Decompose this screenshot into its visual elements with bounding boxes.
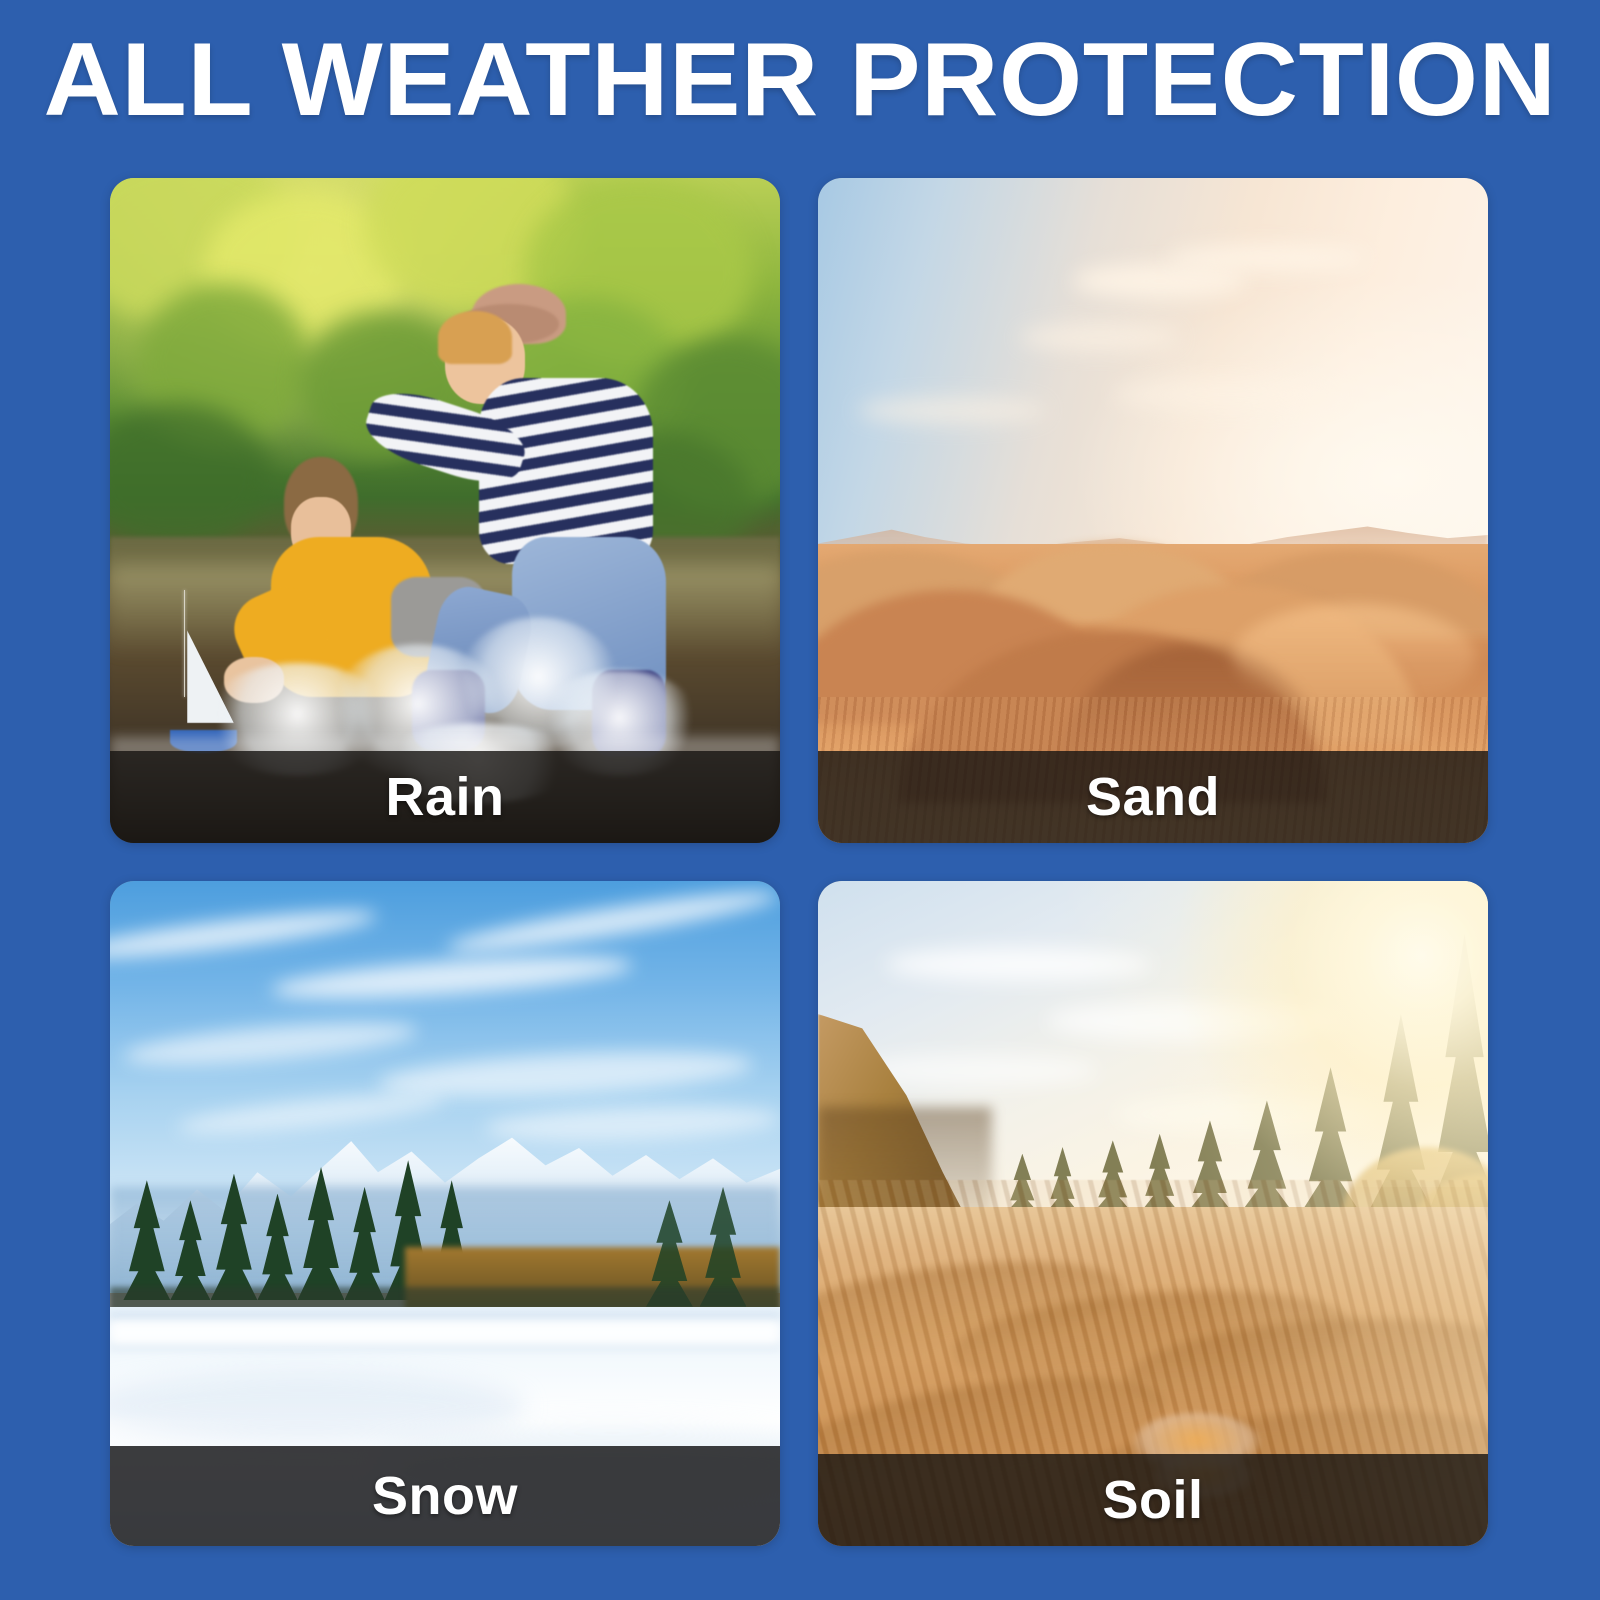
tile-caption-snow: Snow: [110, 1446, 780, 1546]
weather-tile-soil[interactable]: Soil: [818, 881, 1488, 1546]
weather-tile-sand[interactable]: Sand: [818, 178, 1488, 843]
tile-caption-soil: Soil: [818, 1454, 1488, 1546]
weather-tile-rain[interactable]: Rain: [110, 178, 780, 843]
weather-tile-snow[interactable]: Snow: [110, 881, 780, 1546]
tile-caption-sand: Sand: [818, 751, 1488, 843]
soil-photo: [818, 881, 1488, 1546]
rain-photo: [110, 178, 780, 843]
weather-tile-grid: Rain Sand: [110, 178, 1488, 1542]
tile-caption-rain: Rain: [110, 751, 780, 843]
sand-photo: [818, 178, 1488, 843]
page-title: ALL WEATHER PROTECTION: [0, 28, 1600, 132]
